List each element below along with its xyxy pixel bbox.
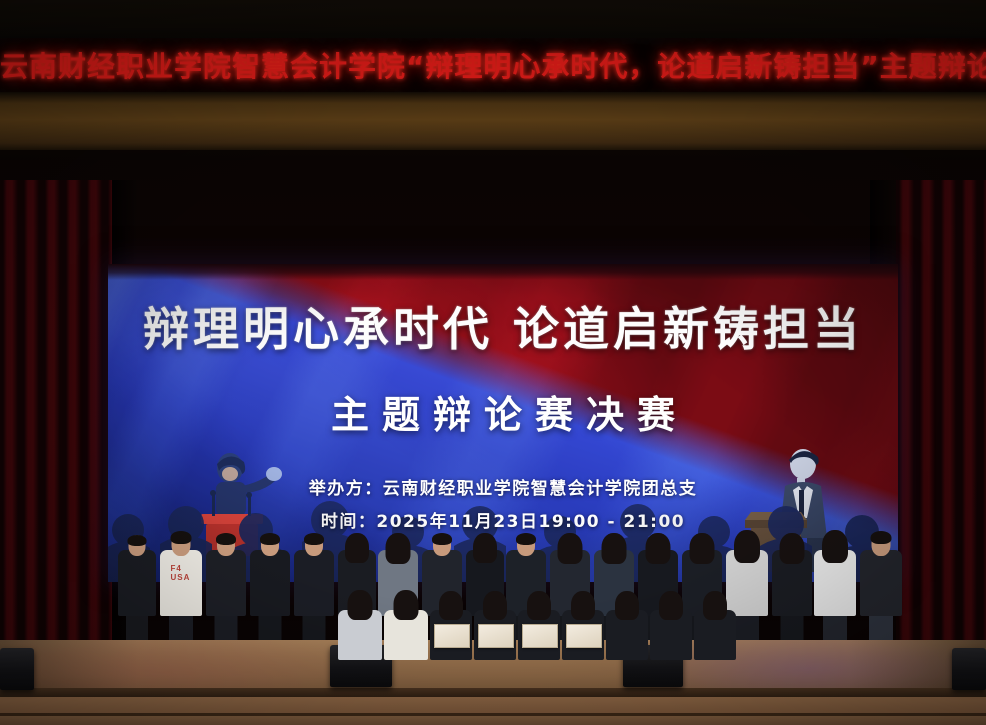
hair bbox=[558, 533, 583, 564]
hair bbox=[822, 530, 848, 563]
hair bbox=[703, 591, 727, 620]
student-front-row bbox=[650, 588, 692, 660]
hair bbox=[348, 590, 373, 620]
student-front-row bbox=[694, 588, 736, 660]
award-certificate bbox=[566, 624, 602, 648]
torso bbox=[294, 550, 334, 616]
hair bbox=[260, 533, 280, 545]
hair bbox=[659, 591, 683, 620]
stage-step-1 bbox=[0, 697, 986, 714]
student-front-row bbox=[562, 588, 604, 660]
stage-monitor-right bbox=[952, 648, 986, 690]
student-front-row bbox=[606, 588, 648, 660]
hair bbox=[602, 533, 627, 564]
stage-photograph: 云南财经职业学院智慧会计学院“辩理明心承时代，论道启新铸担当”主题辩论赛决赛 bbox=[0, 0, 986, 725]
hair bbox=[394, 590, 419, 620]
hair bbox=[615, 591, 639, 620]
led-top-shadow bbox=[108, 264, 898, 280]
stage-curtain-left bbox=[0, 180, 112, 650]
torso bbox=[160, 550, 202, 616]
torso bbox=[250, 550, 290, 616]
award-certificate bbox=[434, 624, 470, 648]
torso bbox=[206, 550, 246, 616]
hair bbox=[527, 591, 551, 620]
proscenium-soffit bbox=[0, 92, 986, 154]
hair bbox=[516, 533, 536, 545]
student-front-row bbox=[338, 588, 382, 660]
led-scrolling-banner-text: 云南财经职业学院智慧会计学院“辩理明心承时代，论道启新铸担当”主题辩论赛决赛 bbox=[0, 45, 986, 85]
stage-curtain-right bbox=[896, 180, 986, 650]
award-certificate bbox=[478, 624, 514, 648]
student-front-row bbox=[430, 588, 472, 660]
hair bbox=[439, 591, 463, 620]
hair bbox=[571, 591, 595, 620]
overhead-banner-rail: 云南财经职业学院智慧会计学院“辩理明心承时代，论道启新铸担当”主题辩论赛决赛 bbox=[0, 38, 986, 94]
stage-step-2 bbox=[0, 716, 986, 725]
hair bbox=[690, 533, 715, 564]
hair bbox=[646, 533, 671, 564]
hair bbox=[734, 530, 760, 563]
hair bbox=[171, 531, 192, 544]
hair bbox=[432, 533, 452, 545]
hair bbox=[780, 533, 805, 564]
hair bbox=[473, 533, 497, 563]
student-front-row bbox=[518, 588, 560, 660]
hair bbox=[483, 591, 507, 620]
student-front-row bbox=[384, 588, 428, 660]
hair bbox=[128, 535, 147, 546]
hair bbox=[345, 533, 369, 563]
award-certificate bbox=[522, 624, 558, 648]
hair bbox=[871, 531, 892, 544]
hair bbox=[216, 533, 236, 545]
student-front-row bbox=[474, 588, 516, 660]
hair bbox=[386, 533, 411, 564]
torso bbox=[860, 550, 902, 616]
torso bbox=[118, 550, 156, 616]
student-group: F4 USA bbox=[110, 512, 890, 660]
jacket-graphic: F4 USA bbox=[171, 564, 192, 582]
hair bbox=[304, 533, 324, 545]
stage-monitor-left bbox=[0, 648, 34, 690]
